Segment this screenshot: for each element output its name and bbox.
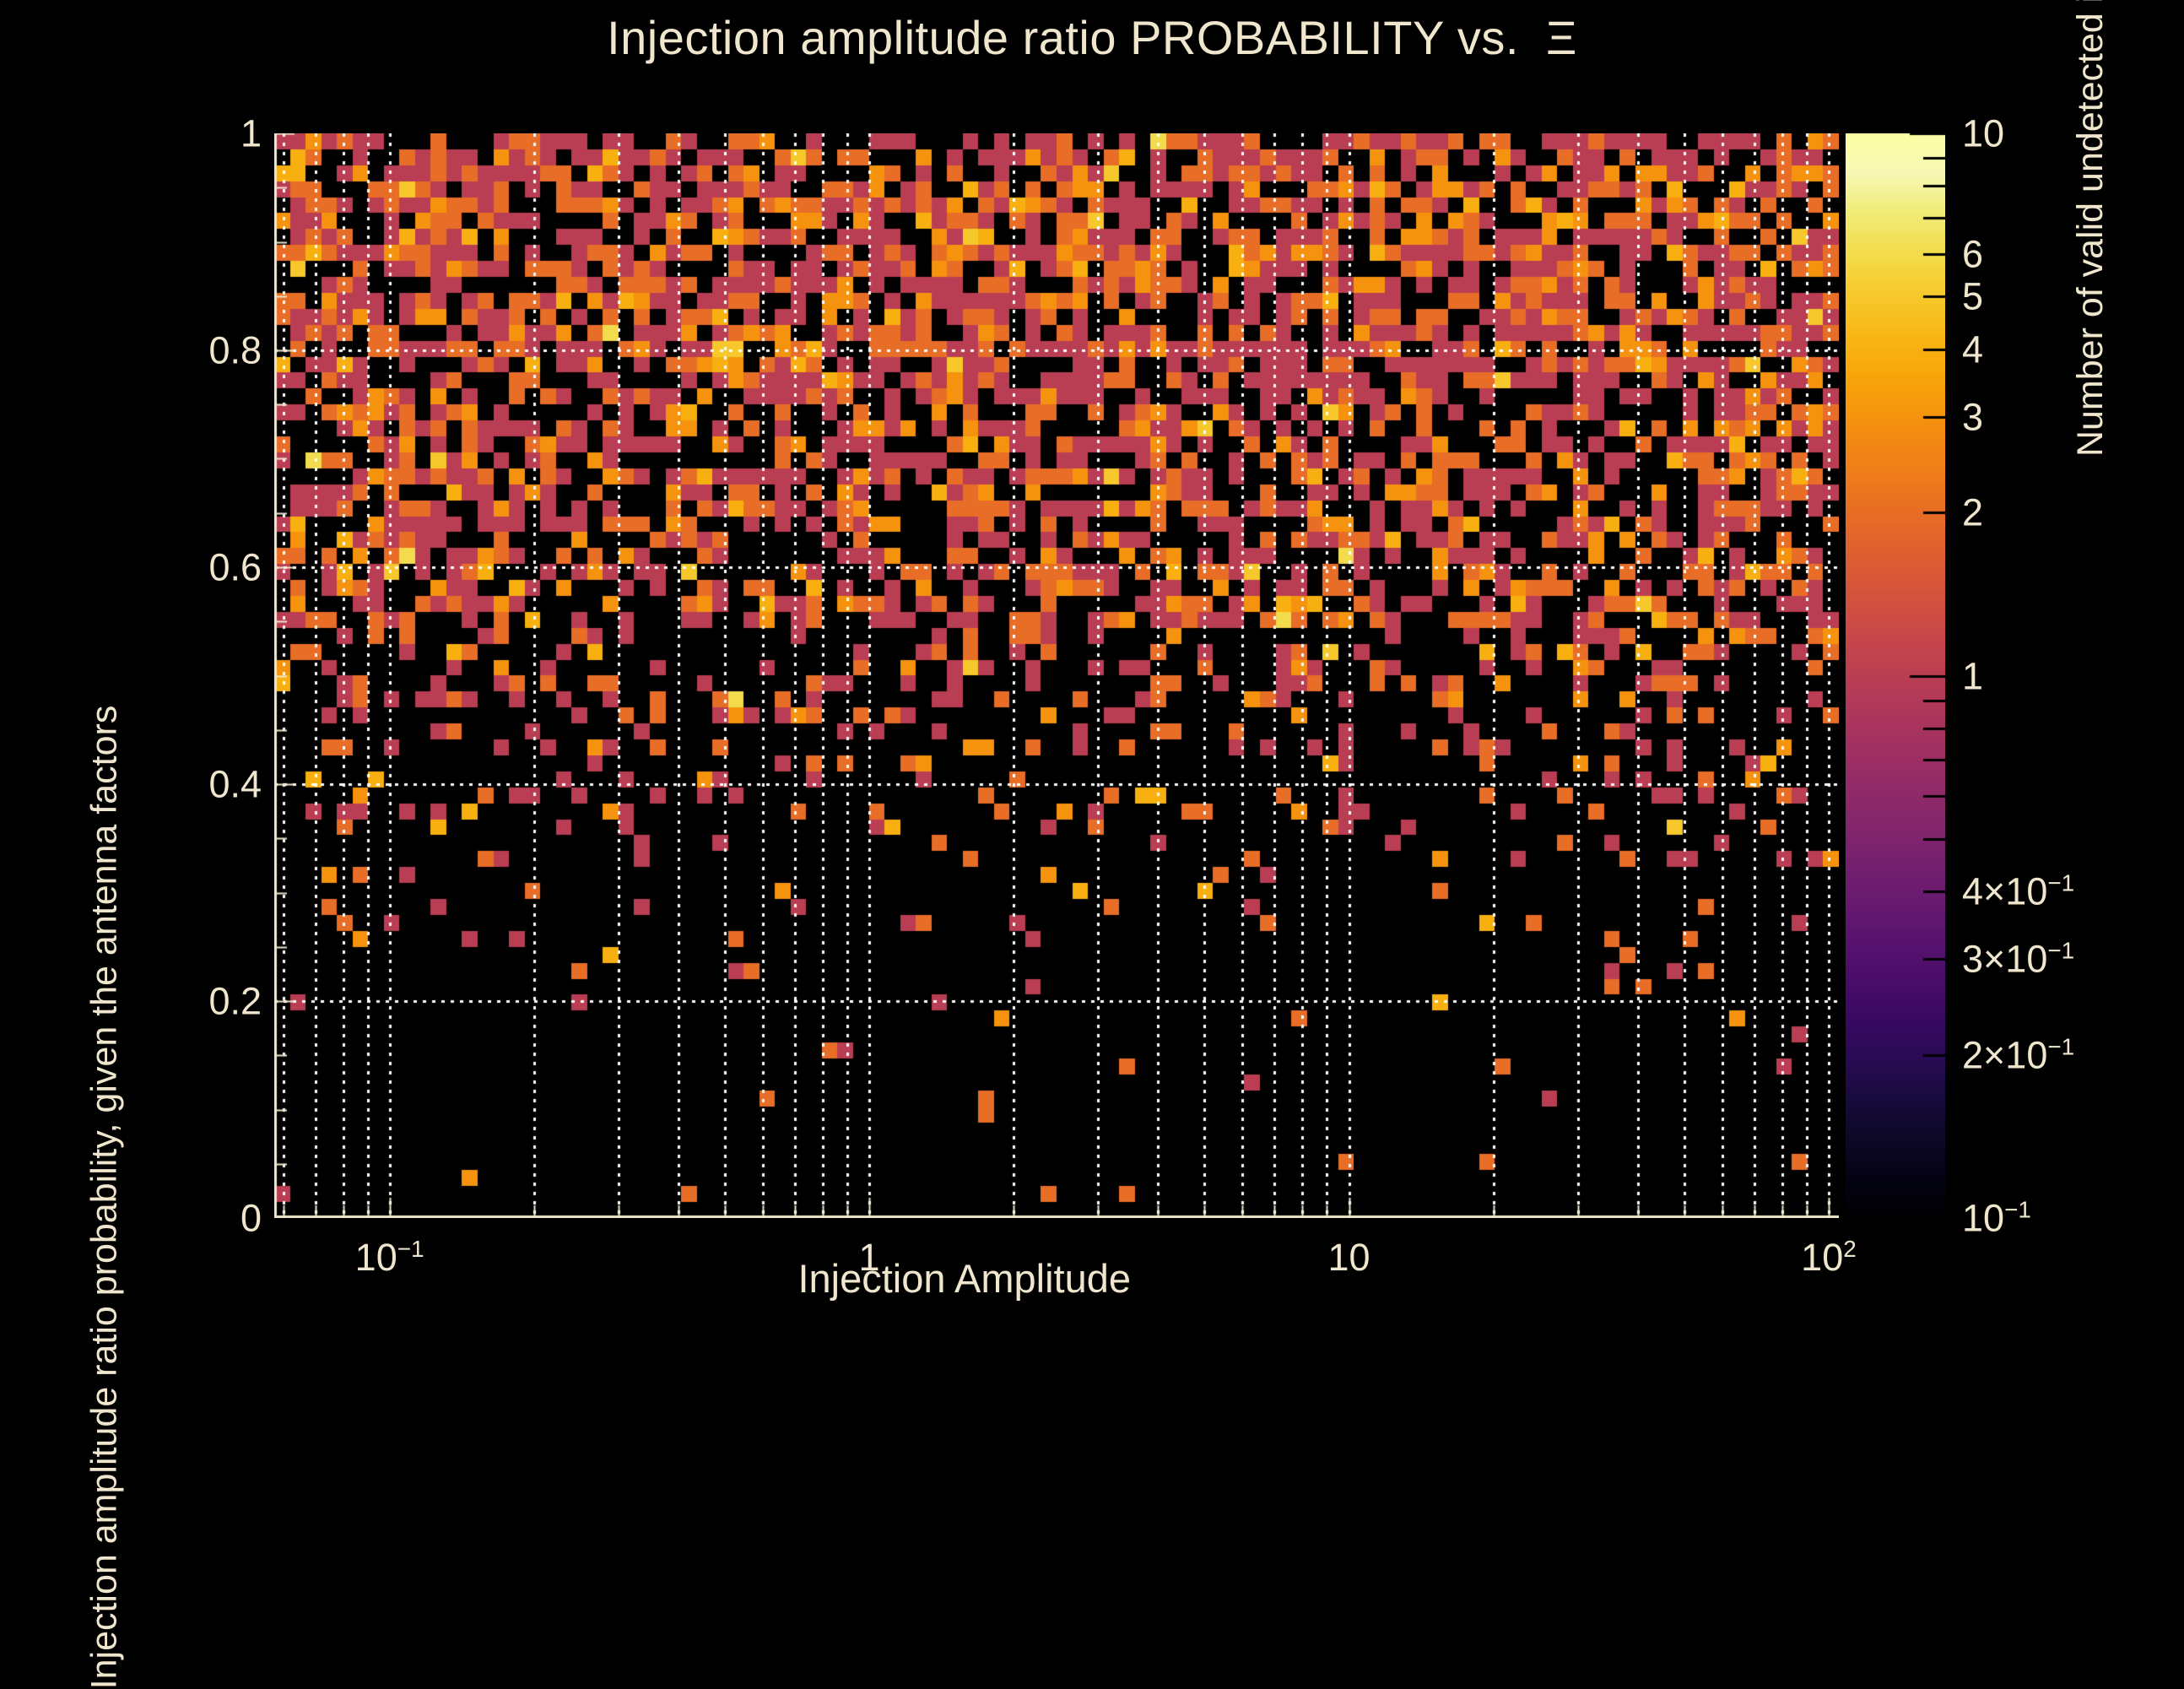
cb-tick-mantissa: 10 (1962, 1197, 2004, 1240)
colorbar-title: Number of valid undetected injections (2068, 133, 2115, 1218)
colorbar-tick-label: 4×10−1 (1962, 873, 2074, 911)
cb-tick-mantissa: 3×10 (1962, 938, 2047, 981)
y-axis-title: Injection amplitude ratio probability, g… (81, 133, 128, 1218)
colorbar-tick-label: 3 (1962, 398, 1983, 436)
y-tick-label: 1 (127, 115, 262, 153)
colorbar-tick-label: 10 (1962, 115, 2004, 153)
cb-tick-exponent: −1 (2004, 1197, 2031, 1223)
x-tick-label: 10−1 (355, 1238, 424, 1276)
cb-tick-mantissa: 4×10 (1962, 870, 2047, 913)
colorbar-tick-label: 3×10−1 (1962, 940, 2074, 978)
colorbar-tick-label: 5 (1962, 278, 1983, 316)
colorbar-tick-label: 4 (1962, 330, 1983, 368)
heatmap-canvas[interactable] (274, 133, 1839, 1218)
x-tick-mantissa: 10 (1801, 1236, 1843, 1279)
y-axis-title-text: Injection amplitude ratio probability, g… (84, 706, 126, 1689)
figure-root: Injection amplitude ratio PROBABILITY vs… (0, 0, 2184, 1351)
y-tick-label: 0.2 (127, 983, 262, 1020)
page-title: Injection amplitude ratio PROBABILITY vs… (0, 10, 2184, 65)
colorbar-tick-label: 2×10−1 (1962, 1036, 2074, 1074)
colorbar-title-text: Number of valid undetected injections (2071, 0, 2112, 457)
x-tick-label: 102 (1801, 1238, 1857, 1276)
x-tick-mantissa: 10 (355, 1236, 397, 1279)
colorbar[interactable] (1846, 133, 1945, 1218)
y-tick-label: 0.4 (127, 766, 262, 804)
colorbar-tick-label: 1 (1962, 657, 1983, 695)
x-tick-exponent: 2 (1843, 1236, 1857, 1262)
colorbar-tick-label: 10−1 (1962, 1199, 2031, 1237)
y-tick-label: 0.6 (127, 549, 262, 587)
colorbar-tick-label: 6 (1962, 235, 1983, 273)
plot-area[interactable] (274, 133, 1839, 1218)
cb-tick-mantissa: 2×10 (1962, 1033, 2047, 1076)
colorbar-tick-label: 2 (1962, 494, 1983, 532)
y-tick-label: 0.8 (127, 332, 262, 370)
colorbar-gradient (1846, 133, 1945, 1218)
x-tick-exponent: −1 (397, 1236, 424, 1262)
y-tick-label: 0 (127, 1199, 262, 1237)
x-axis-title: Injection Amplitude (797, 1255, 1131, 1302)
x-tick-label: 10 (1327, 1238, 1370, 1276)
